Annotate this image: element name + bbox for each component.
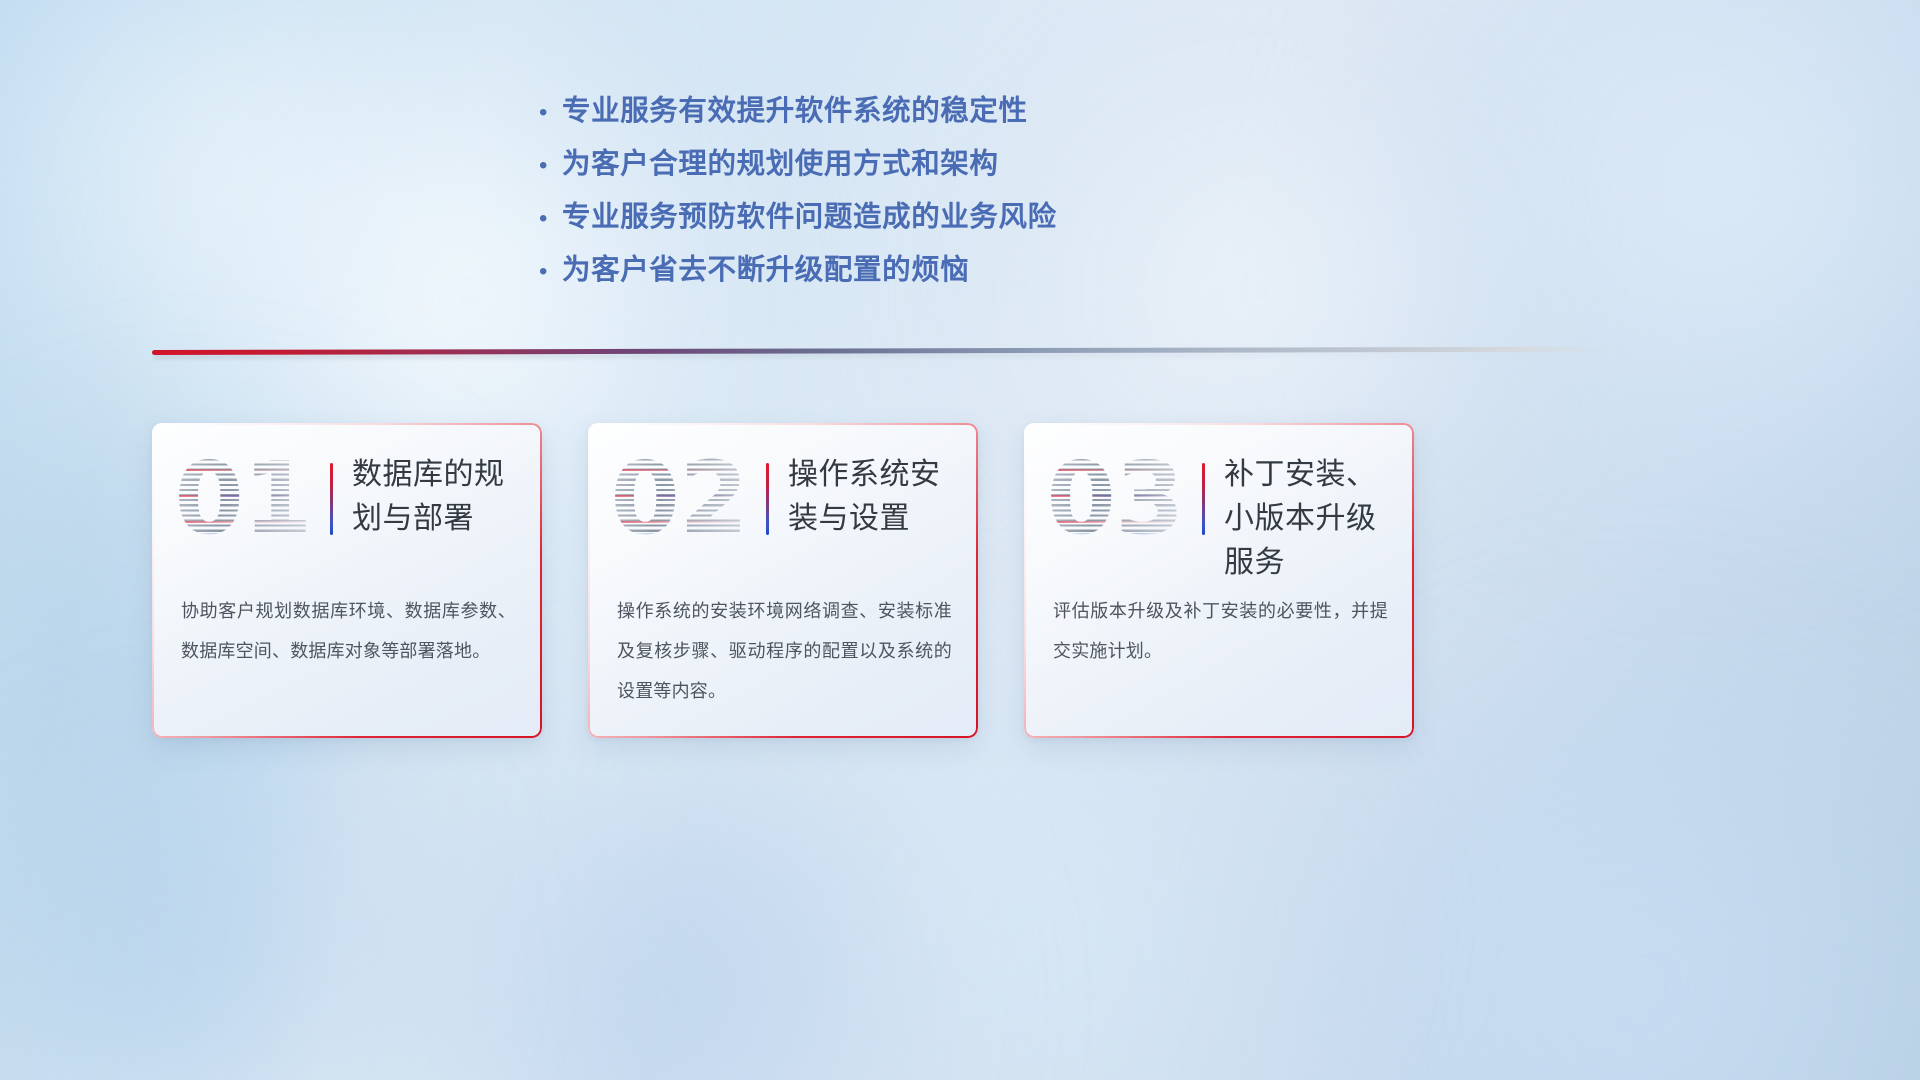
service-card-list: 01 01 01 数据库的规划与部署 协助客户规划数据库环境、数据库参数、数据库… xyxy=(152,423,1616,738)
list-item: • 专业服务有效提升软件系统的稳定性 xyxy=(530,88,1230,141)
bullet-item-label: 专业服务有效提升软件系统的稳定性 xyxy=(562,88,1028,129)
card-title-accent-bar xyxy=(330,463,333,535)
bullet-item-label: 为客户省去不断升级配置的烦恼 xyxy=(562,247,969,288)
card-title-accent-bar xyxy=(766,463,769,535)
card-header: 02 02 02 操作系统安装与设置 xyxy=(588,423,978,573)
list-item: • 专业服务预防软件问题造成的业务风险 xyxy=(530,194,1230,247)
card-title: 补丁安装、小版本升级服务 xyxy=(1224,453,1396,585)
card-title: 数据库的规划与部署 xyxy=(352,453,524,541)
benefits-bullet-list: • 专业服务有效提升软件系统的稳定性 • 为客户合理的规划使用方式和架构 • 专… xyxy=(530,88,1230,300)
card-number-watermark: 03 03 03 xyxy=(1044,443,1186,555)
card-header: 03 03 03 补丁安装、小版本升级服务 xyxy=(1024,423,1414,573)
service-card-01[interactable]: 01 01 01 数据库的规划与部署 协助客户规划数据库环境、数据库参数、数据库… xyxy=(152,423,542,738)
card-number-stripes-blue: 02 xyxy=(608,443,750,555)
bullet-dot-icon: • xyxy=(530,101,562,125)
bullet-item-label: 专业服务预防软件问题造成的业务风险 xyxy=(562,194,1057,235)
card-number-watermark: 02 02 02 xyxy=(608,443,750,555)
card-number-watermark: 01 01 01 xyxy=(172,443,314,555)
card-number-stripes-blue: 03 xyxy=(1044,443,1186,555)
bullet-dot-icon: • xyxy=(530,154,562,178)
bullet-item-label: 为客户合理的规划使用方式和架构 xyxy=(562,141,999,182)
list-item: • 为客户合理的规划使用方式和架构 xyxy=(530,141,1230,194)
card-title: 操作系统安装与设置 xyxy=(788,453,960,541)
card-description: 操作系统的安装环境网络调查、安装标准及复核步骤、驱动程序的配置以及系统的设置等内… xyxy=(617,591,952,711)
service-card-02[interactable]: 02 02 02 操作系统安装与设置 操作系统的安装环境网络调查、安装标准及复核… xyxy=(588,423,978,738)
list-item: • 为客户省去不断升级配置的烦恼 xyxy=(530,247,1230,300)
card-header: 01 01 01 数据库的规划与部署 xyxy=(152,423,542,573)
card-title-accent-bar xyxy=(1202,463,1205,535)
bullet-dot-icon: • xyxy=(530,207,562,231)
service-card-03[interactable]: 03 03 03 补丁安装、小版本升级服务 评估版本升级及补丁安装的必要性，并提… xyxy=(1024,423,1414,738)
section-divider xyxy=(152,350,1616,359)
card-description: 评估版本升级及补丁安装的必要性，并提交实施计划。 xyxy=(1053,591,1388,671)
card-description: 协助客户规划数据库环境、数据库参数、数据库空间、数据库对象等部署落地。 xyxy=(181,591,516,671)
bullet-dot-icon: • xyxy=(530,260,562,284)
card-number-stripes-blue: 01 xyxy=(172,443,314,555)
